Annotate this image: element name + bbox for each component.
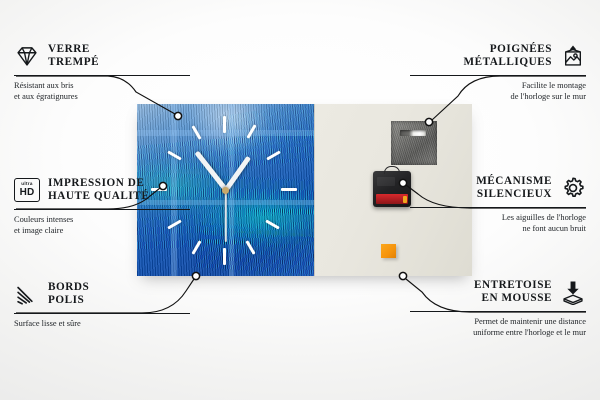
mechanism-panel-slot [377,177,395,186]
feature-description: Permet de maintenir une distanceuniforme… [410,316,586,339]
hour-marker [223,248,226,265]
feature-header: BORDSPOLIS [14,278,190,310]
feature-description: Résistant aux briset aux égratignures [14,80,190,103]
feature-divider [14,75,190,76]
feature-callout-mecanisme[interactable]: MÉCANISMESILENCIEUX Les aiguilles de l'h… [410,172,586,235]
feature-description: Couleurs intenseset image claire [14,214,190,237]
hour-marker [281,188,297,191]
polished-edge-icon [14,281,40,307]
feature-divider [14,209,190,210]
feature-divider [410,207,586,208]
feature-callout-entretoise[interactable]: ENTRETOISEEN MOUSSE Permet de maintenir … [410,276,586,339]
down-arrow-on-stack-icon [560,279,586,305]
framed-picture-hanging-icon [560,43,586,69]
clock-minute-hand [194,151,227,192]
hour-marker [191,240,201,254]
battery [376,194,408,204]
foam-spacer [381,244,396,258]
feature-callout-poignees[interactable]: POIGNÉESMÉTALLIQUES Facilite le montaged… [410,40,586,103]
hour-marker [223,116,226,133]
metallic-hanger-plate [391,121,437,165]
print-grid-line [229,104,234,276]
hour-marker [191,125,201,139]
clock-hour-hand [223,156,250,192]
hour-marker [265,219,279,229]
hour-marker [245,240,255,254]
feature-description: Surface lisse et sûre [14,318,190,329]
feature-description: Les aiguilles de l'horlogene font aucun … [410,212,586,235]
wave-pattern-band [221,104,314,155]
infographic-canvas: VERRETREMPÉ Résistant aux briset aux égr… [0,0,600,400]
feature-description: Facilite le montagede l'horloge sur le m… [410,80,586,103]
battery-terminal [403,196,407,203]
wave-pattern-band [195,222,314,276]
silent-quartz-mechanism [373,171,411,207]
feature-title: ENTRETOISEEN MOUSSE [410,279,552,305]
diamond-icon [14,43,40,69]
wave-pattern-band [137,129,314,176]
clock-center-cap [222,187,229,194]
clock-second-hand [225,190,227,242]
feature-header: MÉCANISMESILENCIEUX [410,172,586,204]
feature-title: VERRETREMPÉ [48,43,190,69]
hd-badge-main-text: HD [20,188,35,198]
mechanism-hanging-loop [384,166,400,174]
feature-title: MÉCANISMESILENCIEUX [410,175,552,201]
feature-header: POIGNÉESMÉTALLIQUES [410,40,586,72]
hanger-slot [400,130,426,136]
feature-divider [410,75,586,76]
feature-callout-impression[interactable]: ultra HD IMPRESSION DEHAUTE QUALITÉ Coul… [14,174,190,237]
feature-callout-bords-polis[interactable]: BORDSPOLIS Surface lisse et sûre [14,278,190,329]
feature-divider [410,311,586,312]
feature-header: ENTRETOISEEN MOUSSE [410,276,586,308]
feature-callout-verre-trempe[interactable]: VERRETREMPÉ Résistant aux briset aux égr… [14,40,190,103]
feature-divider [14,313,190,314]
feature-title: POIGNÉESMÉTALLIQUES [410,43,552,69]
hour-marker [167,150,181,160]
feature-title: IMPRESSION DEHAUTE QUALITÉ [48,177,190,203]
gear-icon [560,175,586,201]
hour-marker [246,124,256,138]
feature-header: ultra HD IMPRESSION DEHAUTE QUALITÉ [14,174,190,206]
feature-header: VERRETREMPÉ [14,40,190,72]
hour-marker [266,150,280,160]
ultra-hd-badge-icon: ultra HD [14,178,40,202]
feature-title: BORDSPOLIS [48,281,190,307]
